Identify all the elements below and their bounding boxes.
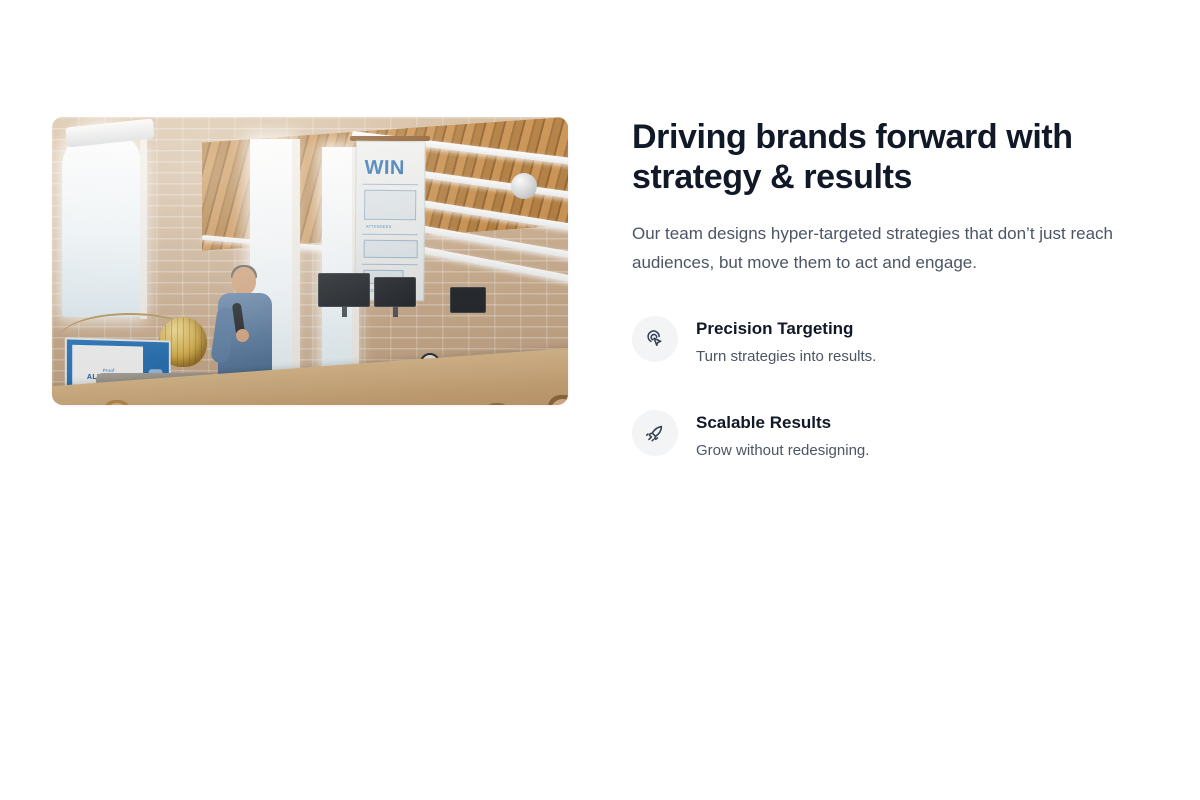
content-column: Driving brands forward with strategy & r… bbox=[632, 117, 1148, 461]
window-frame bbox=[140, 129, 147, 319]
poster-headline: WIN bbox=[364, 157, 405, 180]
feature-description: Grow without redesigning. bbox=[696, 441, 869, 461]
feature-title: Scalable Results bbox=[696, 412, 869, 434]
monitor-stand bbox=[342, 307, 347, 317]
monitor-stand bbox=[393, 307, 398, 317]
feature-title: Precision Targeting bbox=[696, 318, 876, 340]
desk-monitor bbox=[450, 287, 486, 313]
cursor-click-icon bbox=[632, 316, 678, 362]
desk-monitor bbox=[374, 277, 416, 307]
presenter-head bbox=[232, 267, 256, 295]
media-column: WIN ATTENDEES EDUCATION bbox=[52, 117, 568, 405]
feature-text: Precision Targeting Turn strategies into… bbox=[696, 315, 876, 367]
presenter-hand bbox=[236, 329, 249, 342]
office-meeting-photo: WIN ATTENDEES EDUCATION bbox=[52, 117, 568, 405]
photo-scene: WIN ATTENDEES EDUCATION bbox=[52, 117, 568, 405]
poster-rule bbox=[362, 234, 418, 236]
poster-illustration bbox=[364, 240, 418, 259]
rocket-launch-icon bbox=[632, 410, 678, 456]
feature-item-scalable-results: Scalable Results Grow without redesignin… bbox=[632, 409, 1148, 461]
feature-text: Scalable Results Grow without redesignin… bbox=[696, 409, 869, 461]
feature-section: WIN ATTENDEES EDUCATION bbox=[52, 117, 1148, 461]
poster-rule bbox=[362, 264, 418, 266]
poster-illustration bbox=[364, 190, 416, 221]
poster-caption: ATTENDEES bbox=[366, 224, 392, 229]
globe-pendant-light bbox=[511, 173, 537, 199]
poster-rule bbox=[362, 184, 418, 186]
page-root: WIN ATTENDEES EDUCATION bbox=[0, 0, 1200, 800]
feature-list: Precision Targeting Turn strategies into… bbox=[632, 315, 1148, 461]
window-frame bbox=[292, 139, 300, 405]
window bbox=[62, 127, 142, 317]
feature-item-precision-targeting: Precision Targeting Turn strategies into… bbox=[632, 315, 1148, 367]
section-subhead: Our team designs hyper-targeted strategi… bbox=[632, 219, 1148, 277]
feature-description: Turn strategies into results. bbox=[696, 347, 876, 367]
section-headline: Driving brands forward with strategy & r… bbox=[632, 117, 1112, 197]
desk-monitor bbox=[318, 273, 370, 307]
window bbox=[322, 147, 352, 397]
